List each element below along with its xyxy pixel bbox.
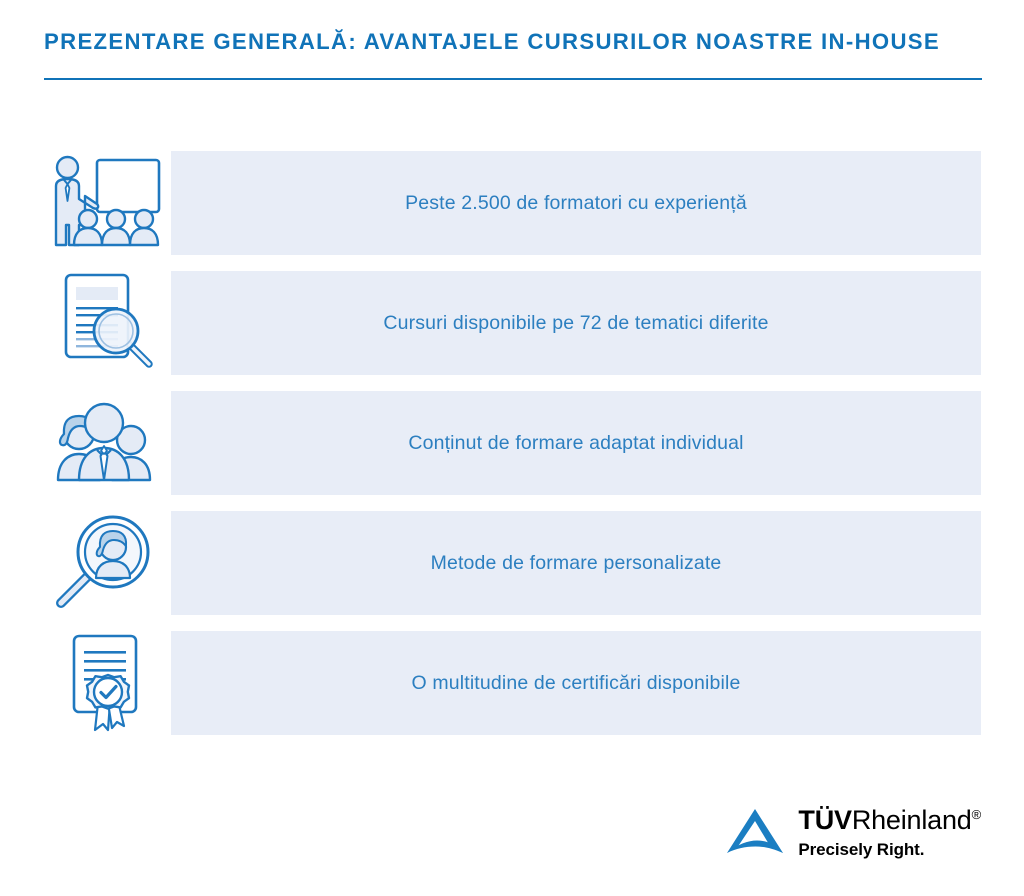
list-item: O multitudine de certificări disponibile xyxy=(0,631,1024,735)
title-divider xyxy=(44,78,982,80)
list-item: Cursuri disponibile pe 72 de tematici di… xyxy=(0,271,1024,375)
logo-text: TÜVRheinland® Precisely Right. xyxy=(798,805,981,861)
tuv-rheinland-logo: TÜVRheinland® Precisely Right. xyxy=(724,805,981,864)
tuv-triangle-icon xyxy=(724,807,786,864)
header: PREZENTARE GENERALĂ: AVANTAJELE CURSURIL… xyxy=(44,28,984,56)
benefits-list: Peste 2.500 de formatori cu experiență xyxy=(0,151,1024,751)
benefit-label: Conținut de formare adaptat individual xyxy=(408,430,743,456)
benefit-band: Cursuri disponibile pe 72 de tematici di… xyxy=(171,271,981,375)
benefit-label: Peste 2.500 de formatori cu experiență xyxy=(405,190,747,216)
benefit-band: Conținut de formare adaptat individual xyxy=(171,391,981,495)
logo-rheinland: Rheinland xyxy=(852,805,972,835)
logo-wordmark: TÜVRheinland® xyxy=(798,805,981,835)
slide-canvas: PREZENTARE GENERALĂ: AVANTAJELE CURSURIL… xyxy=(0,0,1024,896)
trainer-whiteboard-icon xyxy=(44,151,168,255)
benefit-band: Peste 2.500 de formatori cu experiență xyxy=(171,151,981,255)
page-title: PREZENTARE GENERALĂ: AVANTAJELE CURSURIL… xyxy=(44,28,970,56)
logo-tagline: Precisely Right. xyxy=(798,839,981,861)
benefit-band: O multitudine de certificări disponibile xyxy=(171,631,981,735)
benefit-label: O multitudine de certificări disponibile xyxy=(412,670,741,696)
people-group-icon xyxy=(44,391,168,495)
benefit-label: Metode de formare personalizate xyxy=(431,550,722,576)
benefit-label: Cursuri disponibile pe 72 de tematici di… xyxy=(383,310,768,336)
magnifier-person-icon xyxy=(44,511,168,615)
document-magnifier-icon xyxy=(44,271,168,375)
list-item: Metode de formare personalizate xyxy=(0,511,1024,615)
benefit-band: Metode de formare personalizate xyxy=(171,511,981,615)
list-item: Conținut de formare adaptat individual xyxy=(0,391,1024,495)
list-item: Peste 2.500 de formatori cu experiență xyxy=(0,151,1024,255)
certificate-seal-icon xyxy=(44,631,168,735)
logo-tuv: TÜV xyxy=(798,805,851,835)
registered-trademark-icon: ® xyxy=(972,807,981,822)
